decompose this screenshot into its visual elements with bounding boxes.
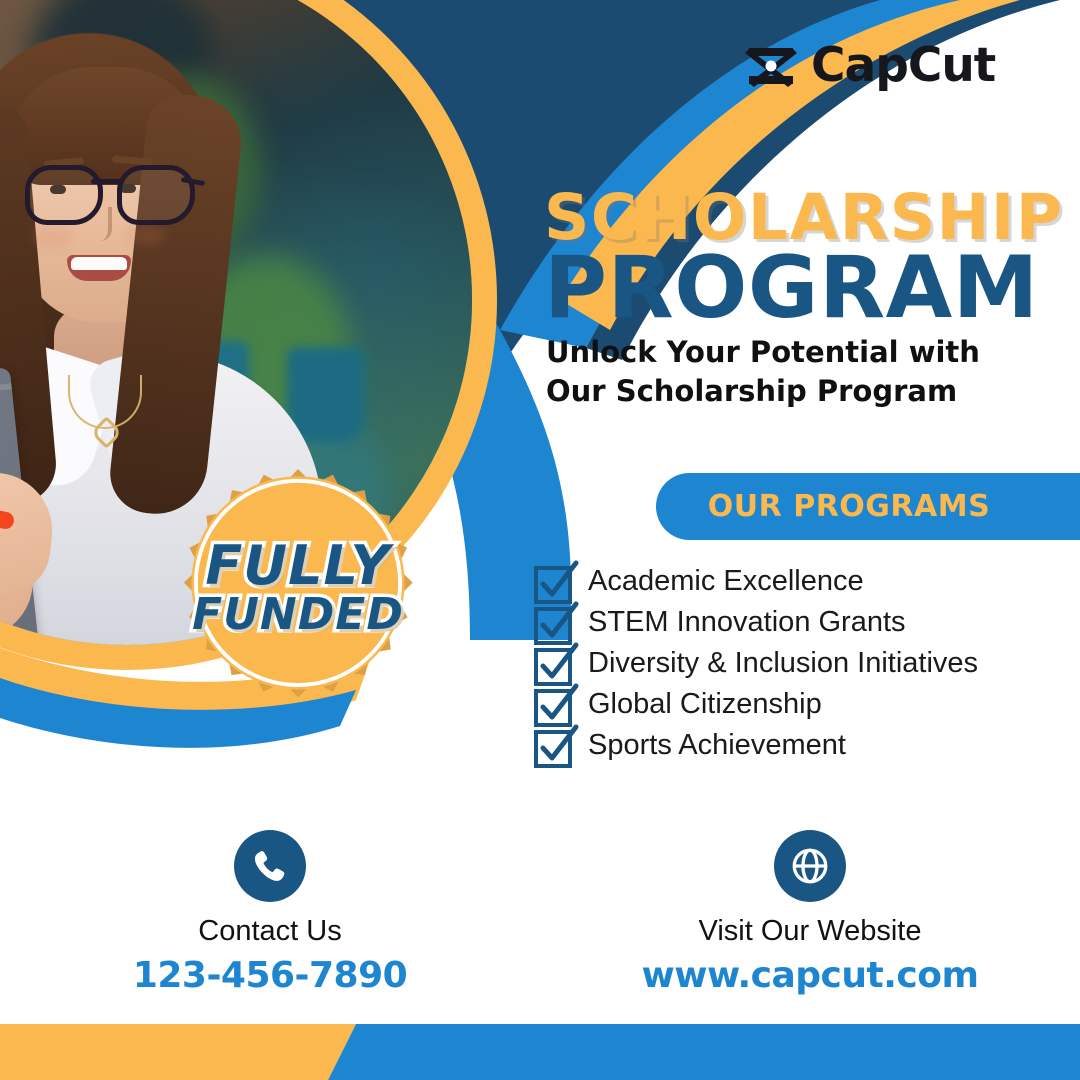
- contact-phone-block[interactable]: Contact Us 123-456-7890: [0, 830, 540, 996]
- checkbox-checked-icon: [534, 563, 572, 601]
- contact-website-url[interactable]: www.capcut.com: [642, 955, 979, 996]
- contact-label: Contact Us: [198, 915, 341, 948]
- contact-label: Visit Our Website: [699, 915, 922, 948]
- headline-bottom: PROGRAM: [544, 245, 1080, 333]
- list-item-label: Diversity & Inclusion Initiatives: [588, 647, 978, 680]
- contact-phone-number[interactable]: 123-456-7890: [133, 955, 407, 996]
- badge-line-1: FULLY: [205, 540, 390, 592]
- list-item[interactable]: Sports Achievement: [534, 725, 1080, 766]
- contact-row: Contact Us 123-456-7890 Visit Our Websit…: [0, 830, 1080, 996]
- checkbox-checked-icon: [534, 604, 572, 642]
- list-item-label: Global Citizenship: [588, 688, 822, 721]
- fully-funded-badge: FULLY FUNDED: [150, 466, 446, 762]
- list-item-label: STEM Innovation Grants: [588, 606, 906, 639]
- phone-icon: [234, 830, 306, 902]
- list-item[interactable]: Diversity & Inclusion Initiatives: [534, 643, 1080, 684]
- our-programs-label: OUR PROGRAMS: [708, 489, 1028, 524]
- list-item-label: Sports Achievement: [588, 729, 846, 762]
- contact-website-block[interactable]: Visit Our Website www.capcut.com: [540, 830, 1080, 996]
- capcut-bowtie-icon: [745, 44, 797, 88]
- programs-list: Academic Excellence STEM Innovation Gran…: [534, 561, 1080, 766]
- headline-subtitle: Unlock Your Potential with Our Scholarsh…: [546, 333, 1046, 412]
- checkbox-checked-icon: [534, 645, 572, 683]
- our-programs-banner: OUR PROGRAMS: [656, 473, 1080, 540]
- list-item[interactable]: Global Citizenship: [534, 684, 1080, 725]
- logo-text: CapCut: [811, 38, 995, 93]
- list-item[interactable]: STEM Innovation Grants: [534, 602, 1080, 643]
- checkbox-checked-icon: [534, 686, 572, 724]
- footer-yellow-shape: [0, 1024, 356, 1080]
- headline-block: SCHOLARSHIP PROGRAM: [544, 186, 1080, 333]
- scholarship-program-poster: FULLY FUNDED CapCut SCHOLARSHIP PROGRAM …: [0, 0, 1080, 1080]
- list-item-label: Academic Excellence: [588, 565, 864, 598]
- list-item[interactable]: Academic Excellence: [534, 561, 1080, 602]
- globe-icon: [774, 830, 846, 902]
- capcut-logo: CapCut: [745, 38, 995, 93]
- checkbox-checked-icon: [534, 727, 572, 765]
- badge-line-2: FUNDED: [192, 594, 404, 636]
